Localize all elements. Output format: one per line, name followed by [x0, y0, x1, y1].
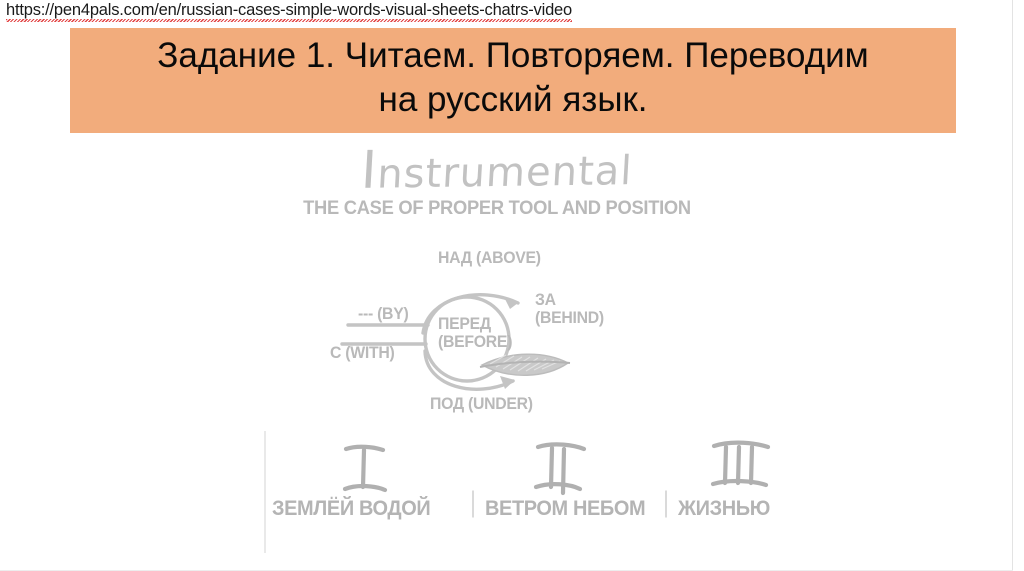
label-center-line2: (BEFORE) [438, 332, 512, 351]
label-by: --- (BY) [358, 305, 408, 323]
declension-words-3: ЖИЗНЬЮ [678, 497, 770, 521]
title-banner: Задание 1. Читаем. Повторяем. Переводим … [70, 28, 956, 133]
url-text: https://pen4pals.com/en/russian-cases-si… [6, 1, 572, 20]
worksheet-subtitle: THE CASE OF PROPER TOOL AND POSITION [300, 197, 695, 220]
worksheet-handwritten-title: Instrumental [285, 140, 708, 198]
slide-page: https://pen4pals.com/en/russian-cases-si… [0, 0, 1024, 571]
roman-numeral-1-glyph [338, 441, 390, 497]
label-behind: ЗА (BEHIND) [535, 291, 604, 327]
page-title: Задание 1. Читаем. Повторяем. Переводим … [157, 34, 868, 122]
separator-1: | [470, 487, 476, 517]
label-behind-line1: ЗА [535, 290, 556, 309]
roman-numeral-3-glyph [706, 437, 774, 495]
roman-numeral-2-glyph [530, 439, 590, 499]
label-above: НАД (ABOVE) [438, 249, 541, 267]
left-rule [264, 431, 266, 553]
label-behind-line2: (BEHIND) [535, 308, 604, 327]
label-center-line1: ПЕРЕД [438, 314, 491, 333]
handwritten-title-rest: nstrumental [376, 148, 634, 198]
declension-row: ЗЕМЛЁЙ ВОДОЙ | ВЕТРОМ НЕБОМ | [0, 425, 1013, 565]
label-with: С (WITH) [330, 344, 395, 362]
label-under: ПОД (UNDER) [430, 395, 533, 413]
declension-words-2: ВЕТРОМ НЕБОМ [485, 497, 645, 521]
page-border-right [1012, 0, 1013, 571]
worksheet-graphic: Instrumental THE CASE OF PROPER TOOL AND… [0, 135, 1013, 571]
page-url[interactable]: https://pen4pals.com/en/russian-cases-si… [6, 1, 572, 20]
case-diagram: НАД (ABOVE) ЗА (BEHIND) ПОД (UNDER) С (W… [330, 247, 670, 432]
separator-2: | [663, 487, 669, 517]
label-center: ПЕРЕД (BEFORE) [438, 315, 512, 351]
right-crop-mask [790, 425, 1013, 565]
declension-words-1: ЗЕМЛЁЙ ВОДОЙ [272, 497, 430, 521]
